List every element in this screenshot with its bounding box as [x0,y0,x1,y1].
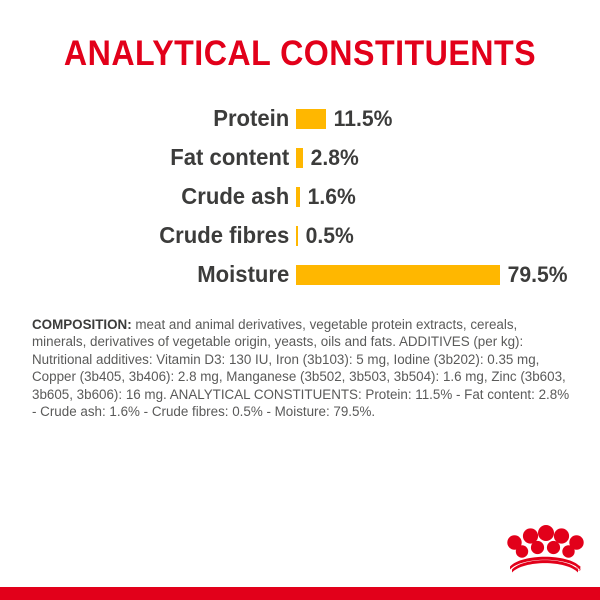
analytical-constituents-chart: Protein11.5%Fat content2.8%Crude ash1.6%… [0,99,600,294]
chart-row: Protein11.5% [0,99,600,138]
royal-canin-crown-logo: ® [506,520,584,576]
chart-row: Crude ash1.6% [0,177,600,216]
chart-row-bar [296,109,326,129]
bottom-red-band [0,587,600,600]
chart-row: Crude fibres0.5% [0,216,600,255]
composition-body: meat and animal derivatives, vegetable p… [32,317,569,419]
trademark-symbol: ® [576,565,582,573]
chart-row-value: 79.5% [500,264,568,286]
page-title: ANALYTICAL CONSTITUENTS [24,36,576,71]
chart-row: Fat content2.8% [0,138,600,177]
chart-row-value: 2.8% [303,147,359,169]
chart-row-value: 1.6% [300,186,356,208]
chart-row: Moisture79.5% [0,255,600,294]
nutrition-label-page: ANALYTICAL CONSTITUENTS Protein11.5%Fat … [0,0,600,600]
chart-row-label: Protein [12,107,296,130]
chart-row-label: Crude fibres [12,224,296,247]
composition-heading: COMPOSITION: [32,317,132,332]
chart-row-label: Crude ash [12,185,296,208]
chart-row-bar [296,265,500,285]
chart-row-value: 0.5% [298,225,354,247]
chart-row-label: Fat content [12,146,296,169]
chart-row-label: Moisture [12,263,296,286]
chart-row-value: 11.5% [326,108,392,130]
composition-paragraph: COMPOSITION: meat and animal derivatives… [32,316,570,420]
